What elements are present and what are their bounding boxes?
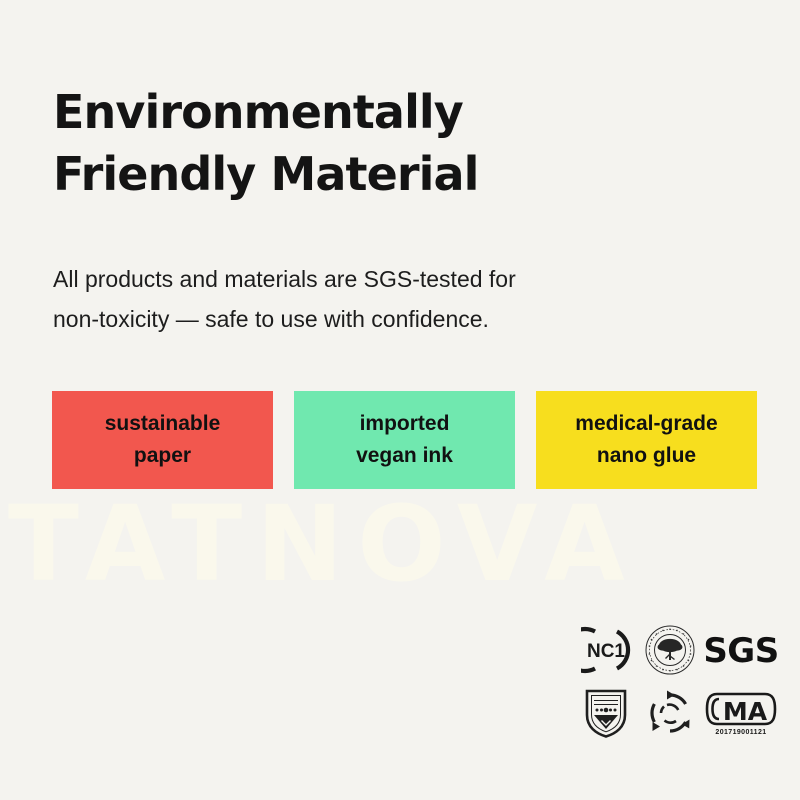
sgs-wordmark-icon: SGS	[704, 629, 778, 671]
promo-banner: TATNOVA Environmentally Friendly Materia…	[0, 0, 800, 800]
certification-nc1: NC1	[574, 618, 638, 682]
brand-watermark: TATNOVA	[8, 487, 798, 602]
certification-logo-grid: NC1	[574, 618, 784, 744]
nc1-circle-icon: NC1	[581, 625, 631, 675]
page-title-line-2: Friendly Material	[53, 143, 693, 205]
svg-text:MA: MA	[723, 697, 768, 726]
forest-tree-seal-icon	[644, 624, 696, 676]
chip-label-line-1: sustainable	[105, 408, 221, 440]
certification-cma: MA 201719001121	[702, 682, 780, 744]
cma-certificate-number: 201719001121	[715, 729, 766, 736]
page-subtitle-line-1: All products and materials are SGS-teste…	[53, 259, 653, 299]
certification-sgs: SGS	[702, 618, 780, 682]
chip-label-line-2: paper	[134, 440, 191, 472]
page-title: Environmentally Friendly Material	[53, 81, 693, 205]
material-chip-sustainable-paper[interactable]: sustainable paper	[52, 391, 273, 489]
certification-forest-seal	[638, 618, 702, 682]
shield-badge-icon	[583, 687, 629, 739]
svg-text:NC1: NC1	[587, 641, 625, 662]
svg-text:SGS: SGS	[704, 631, 778, 671]
material-chip-group: sustainable paper imported vegan ink med…	[52, 391, 757, 489]
material-chip-imported-vegan-ink[interactable]: imported vegan ink	[294, 391, 515, 489]
cma-mark-icon: MA	[705, 690, 777, 728]
chip-label-line-2: nano glue	[597, 440, 696, 472]
material-chip-medical-grade-nano-glue[interactable]: medical-grade nano glue	[536, 391, 757, 489]
page-subtitle: All products and materials are SGS-teste…	[53, 259, 653, 339]
recycle-arrows-icon	[645, 688, 695, 738]
chip-label-line-1: medical-grade	[575, 408, 717, 440]
certification-recycle	[638, 682, 702, 744]
page-subtitle-line-2: non-toxicity — safe to use with confiden…	[53, 299, 653, 339]
certification-shield-badge	[574, 682, 638, 744]
chip-label-line-2: vegan ink	[356, 440, 453, 472]
page-title-line-1: Environmentally	[53, 81, 693, 143]
chip-label-line-1: imported	[360, 408, 450, 440]
